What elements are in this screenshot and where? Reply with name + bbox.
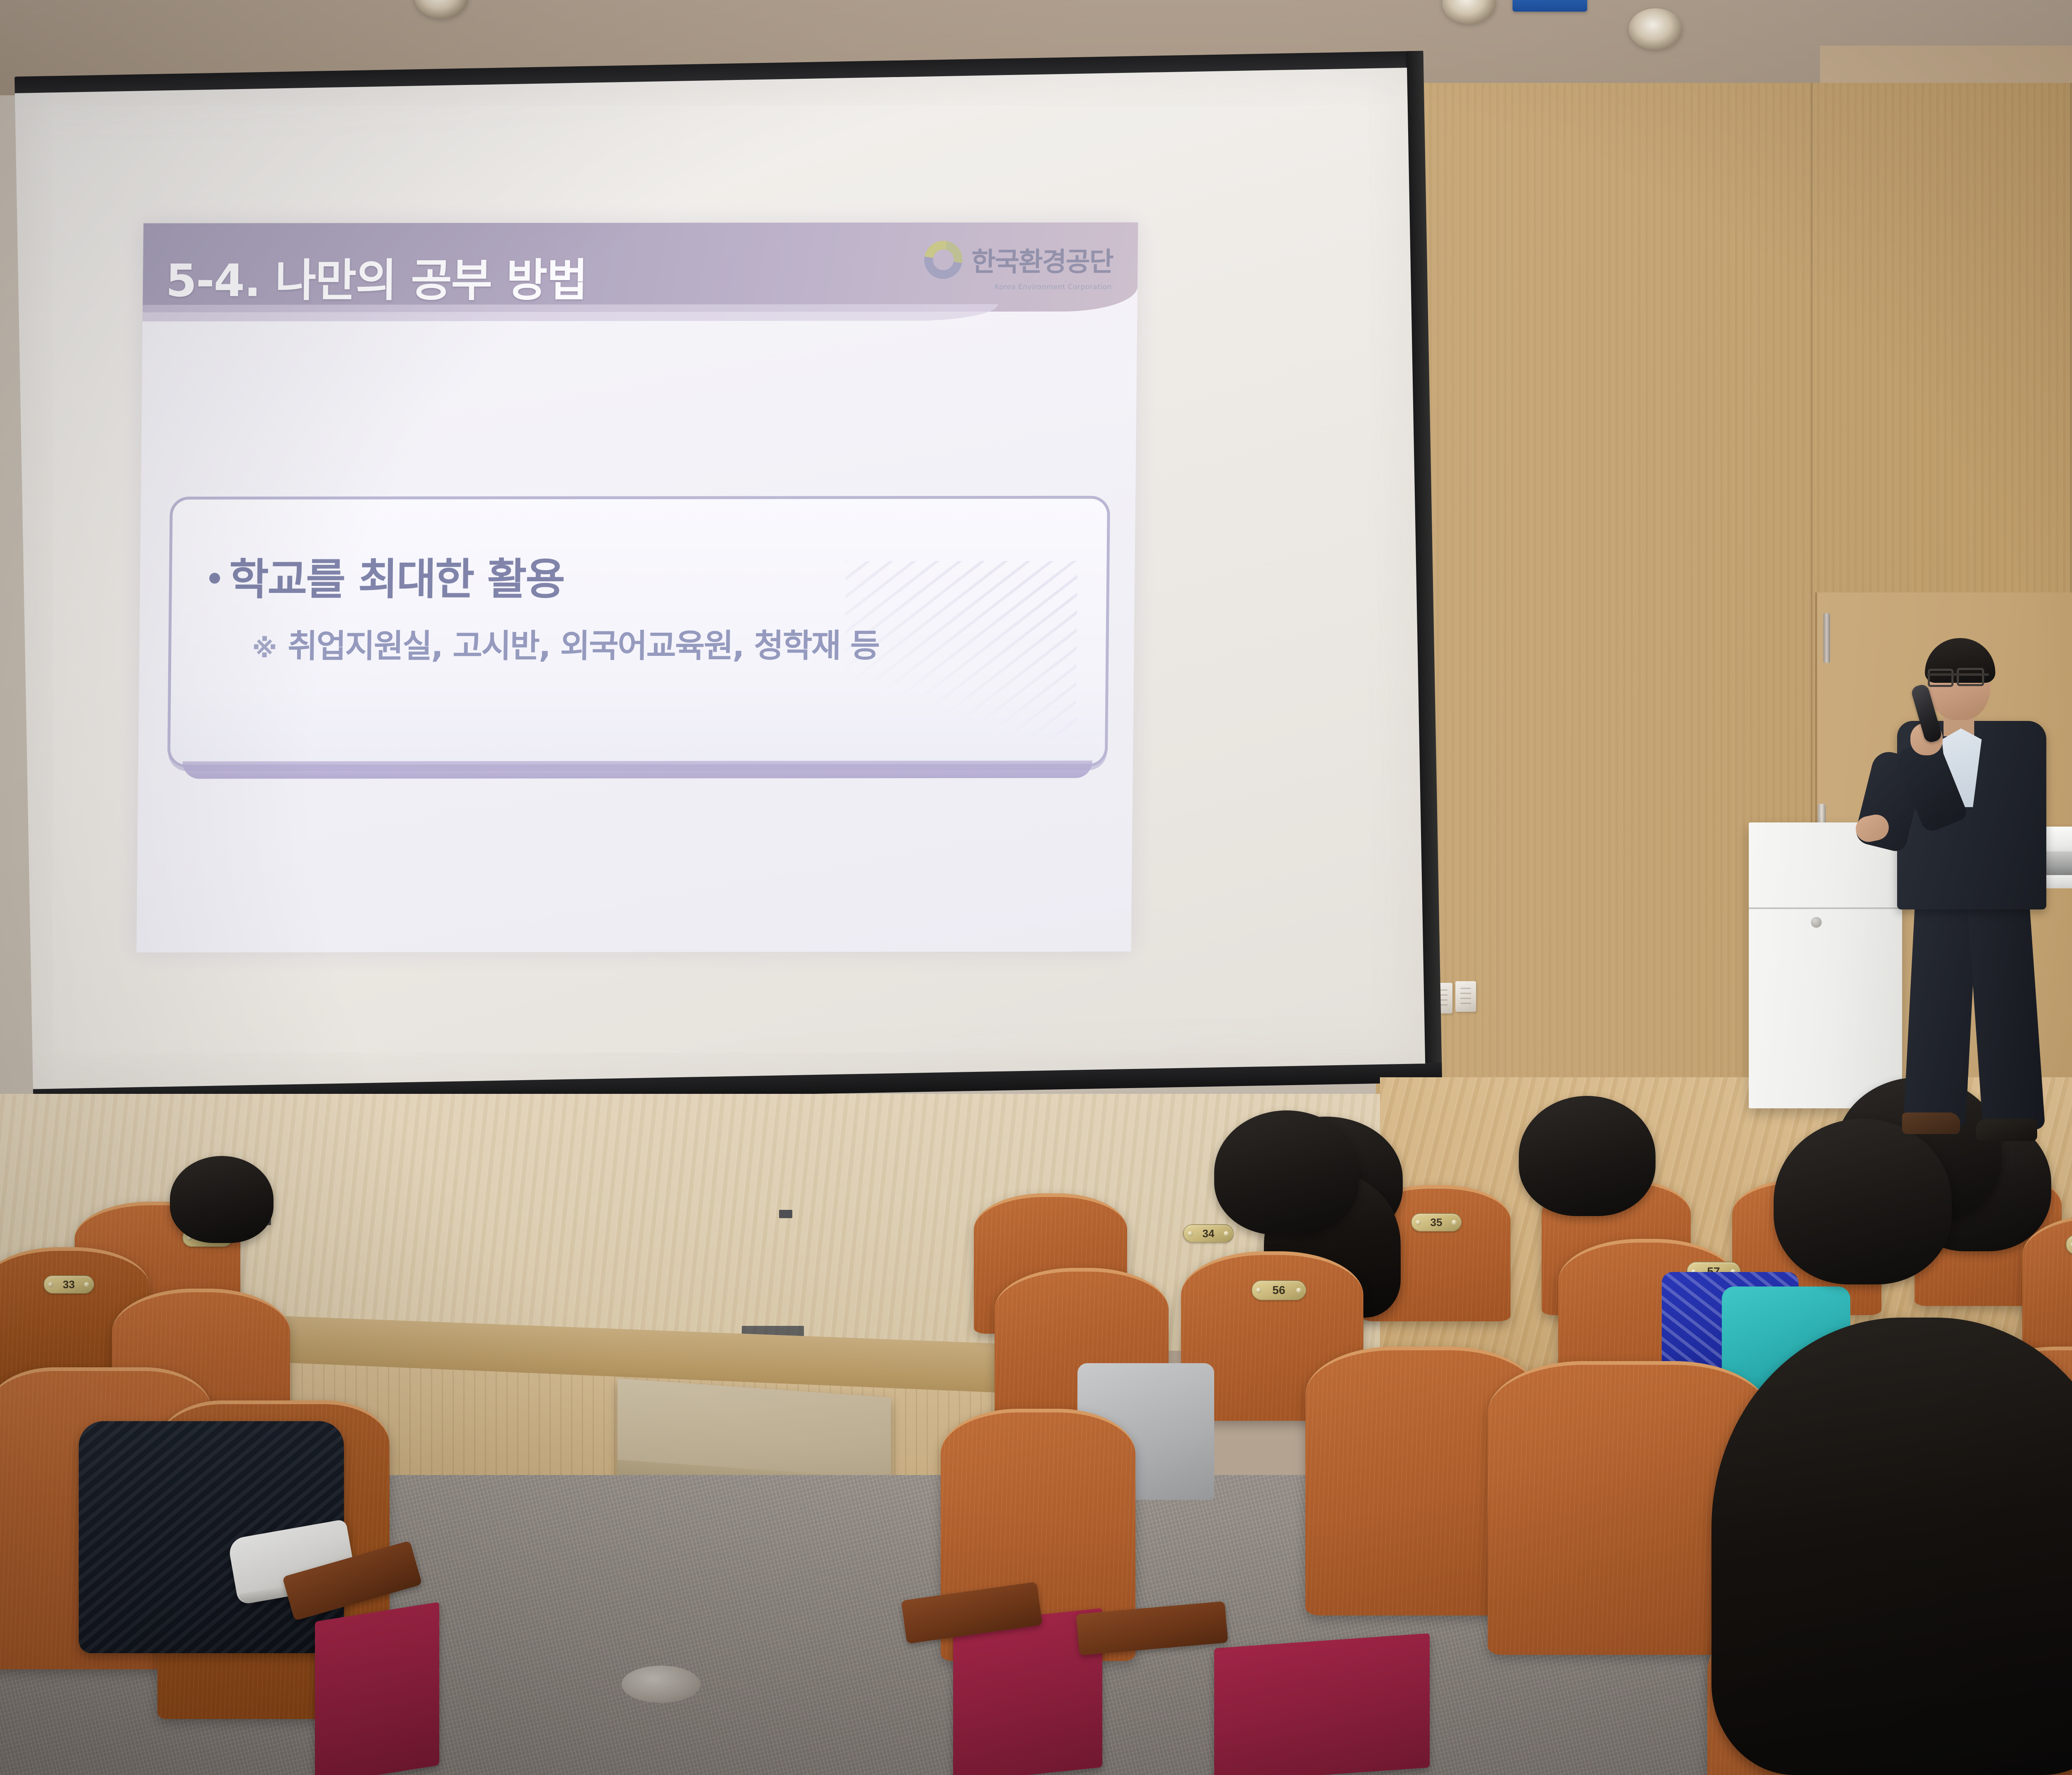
podium-cabinet (1749, 822, 1902, 1108)
seat-number-plate: 34 (1183, 1224, 1234, 1243)
slide-bullet-primary: 학교를 최대한 활용 (209, 544, 564, 607)
speaker-shoe-left (1902, 1112, 1960, 1134)
slide-title: 5-4. 나만의 공부 방법 (165, 244, 587, 310)
door-hinge (1823, 613, 1830, 663)
seat-cushion (1214, 1633, 1430, 1775)
wall-outlet-plate[interactable] (1455, 981, 1476, 1012)
seat-number-plate: 33 (44, 1275, 94, 1294)
reference-mark-icon: ※ (252, 633, 276, 663)
seat-number-plate: 35 (1411, 1213, 1462, 1231)
ring-logo-icon (917, 233, 970, 286)
organization-logo: 한국환경공단 (924, 241, 1113, 279)
eyeglasses-icon (1928, 669, 1953, 687)
projected-slide: 5-4. 나만의 공부 방법 한국환경공단 Korea Environment … (136, 222, 1138, 953)
slide-bullet-secondary-text: 취업지원실, 고시반, 외국어교육원, 청학재 등 (288, 627, 879, 665)
bullet-dot-icon (209, 573, 220, 583)
slide-stair-graphic (844, 561, 1077, 739)
slide-bullet-primary-text: 학교를 최대한 활용 (229, 554, 564, 605)
projection-screen: 5-4. 나만의 공부 방법 한국환경공단 Korea Environment … (15, 51, 1442, 1108)
speaker-leg-left (1903, 885, 1978, 1128)
cabinet-seam (1749, 907, 1902, 909)
audience-long-hair (1711, 1318, 2072, 1775)
speaker-leg-right (1966, 885, 2045, 1133)
stage-floor-marker (779, 1210, 792, 1218)
ceiling-downlight-icon (1629, 8, 1682, 50)
seat-number-plate: 56 (1251, 1280, 1306, 1300)
audience-head (1519, 1096, 1656, 1216)
lecture-hall-photo: 5-4. 나만의 공부 방법 한국환경공단 Korea Environment … (0, 0, 2072, 1775)
cabinet-lock-icon (1811, 917, 1822, 928)
screen-surface: 5-4. 나만의 공부 방법 한국환경공단 Korea Environment … (15, 68, 1425, 1089)
audience-head (170, 1156, 274, 1243)
floor-access-plate (622, 1666, 700, 1703)
audience-head (1774, 1119, 1952, 1284)
slide-bullet-secondary: ※취업지원실, 고시반, 외국어교육원, 청학재 등 (252, 620, 879, 667)
eyeglasses-icon (1957, 668, 1984, 686)
organization-logo-subtext: Korea Environment Corporation (995, 283, 1112, 291)
speaker-shoe-right (1976, 1119, 2037, 1141)
organization-logo-text: 한국환경공단 (971, 241, 1113, 279)
audience-head (1214, 1110, 1359, 1235)
eyeglasses-bridge-icon (1927, 673, 1989, 676)
ceiling-blue-sign (1513, 0, 1587, 12)
speaker-legs (1906, 887, 2039, 1131)
slide-content-box: 학교를 최대한 활용 ※취업지원실, 고시반, 외국어교육원, 청학재 등 (167, 496, 1110, 768)
seat-cushion (315, 1602, 439, 1775)
